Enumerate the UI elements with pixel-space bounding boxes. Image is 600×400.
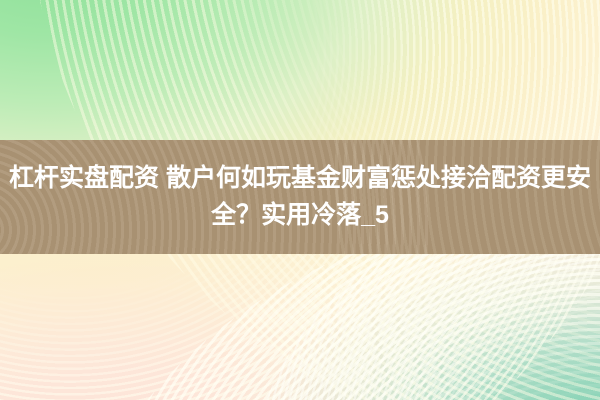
title-band: 杠杆实盘配资 散户何如玩基金财富惩处接洽配资更安全？实用冷落_5 bbox=[0, 140, 600, 254]
article-banner: 杠杆实盘配资 散户何如玩基金财富惩处接洽配资更安全？实用冷落_5 bbox=[0, 0, 600, 400]
banner-title: 杠杆实盘配资 散户何如玩基金财富惩处接洽配资更安全？实用冷落_5 bbox=[7, 160, 593, 234]
